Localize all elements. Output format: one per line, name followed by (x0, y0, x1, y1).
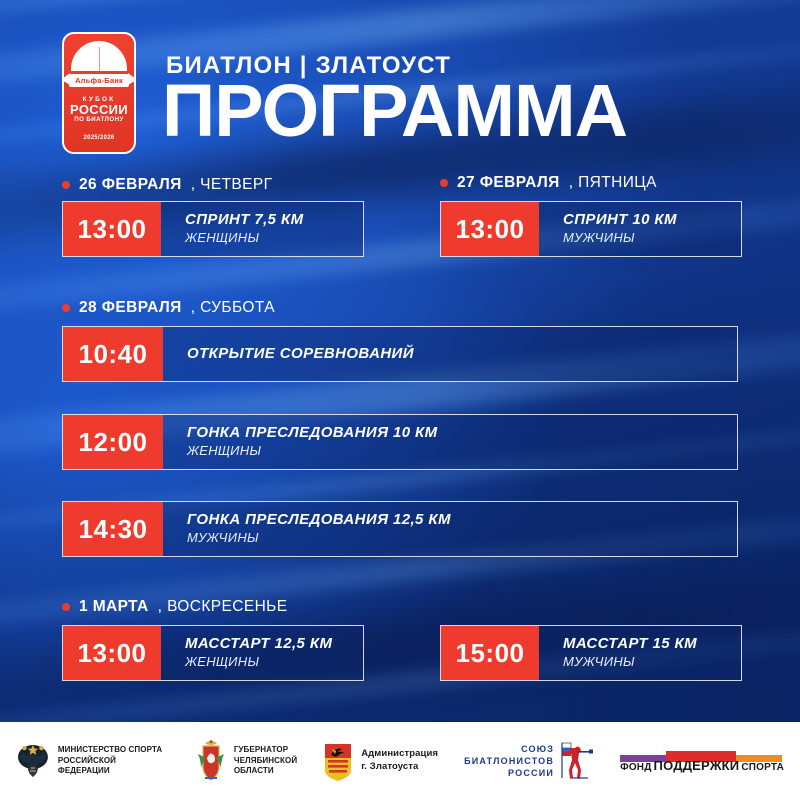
logo-zlatoust-administration: Администрация г. Златоуста (323, 740, 438, 782)
logo-text: Администрация г. Златоуста (361, 748, 438, 774)
event-card[interactable]: 13:00 СПРИНТ 7,5 КМ ЖЕНЩИНЫ (62, 201, 364, 257)
event-card[interactable]: 13:00 МАССТАРТ 12,5 КМ ЖЕНЩИНЫ (62, 625, 364, 681)
day-header-27-feb: 27 ФЕВРАЛЯ , ПЯТНИЦА (440, 174, 800, 192)
event-card[interactable]: 14:30 ГОНКА ПРЕСЛЕДОВАНИЯ 12,5 КМ МУЖЧИН… (62, 501, 738, 557)
event-details: ОТКРЫТИЕ СОРЕВНОВАНИЙ (163, 327, 737, 381)
chelyabinsk-coat-of-arms-icon (196, 740, 226, 782)
event-category: МУЖЧИНЫ (187, 530, 737, 546)
day-date: 26 ФЕВРАЛЯ (79, 176, 182, 194)
event-card[interactable]: 10:40 ОТКРЫТИЕ СОРЕВНОВАНИЙ (62, 326, 738, 382)
event-category: ЖЕНЩИНЫ (187, 443, 737, 459)
bullet-dot-icon (62, 304, 70, 312)
event-name: ОТКРЫТИЕ СОРЕВНОВАНИЙ (187, 346, 737, 363)
event-time: 13:00 (441, 202, 539, 256)
logo-ministry-of-sport: МИНИСТЕРСТВО СПОРТА РОССИЙСКОЙ ФЕДЕРАЦИИ (16, 741, 170, 781)
day-weekday: , ПЯТНИЦА (569, 174, 657, 192)
event-name: СПРИНТ 10 КМ (563, 212, 741, 229)
event-details: МАССТАРТ 12,5 КМ ЖЕНЩИНЫ (161, 626, 363, 680)
event-details: СПРИНТ 10 КМ МУЖЧИНЫ (539, 202, 741, 256)
event-name: ГОНКА ПРЕСЛЕДОВАНИЯ 12,5 КМ (187, 512, 737, 529)
logo-text: МИНИСТЕРСТВО СПОРТА РОССИЙСКОЙ ФЕДЕРАЦИИ (58, 745, 170, 777)
event-time: 10:40 (63, 327, 163, 381)
cup-badge-logo: Альфа-Банк КУБОК РОССИИ ПО БИАТЛОНУ 2025… (62, 32, 136, 154)
event-category: МУЖЧИНЫ (563, 654, 741, 670)
poster-header: Альфа-Банк КУБОК РОССИИ ПО БИАТЛОНУ 2025… (62, 28, 760, 148)
day-header-1-mar: 1 МАРТА , ВОСКРЕСЕНЬЕ (62, 598, 800, 616)
cup-line-3: ПО БИАТЛОНУ (70, 117, 128, 124)
target-arc-icon (71, 41, 127, 71)
alfa-bank-ribbon: Альфа-Банк (69, 71, 129, 87)
fund-word-3: СПОРТА (741, 762, 784, 773)
alfa-bank-label: Альфа-Банк (69, 74, 129, 87)
event-time: 12:00 (63, 415, 163, 469)
event-details: МАССТАРТ 15 КМ МУЖЧИНЫ (539, 626, 741, 680)
event-time: 15:00 (441, 626, 539, 680)
partners-footer: МИНИСТЕРСТВО СПОРТА РОССИЙСКОЙ ФЕДЕРАЦИИ… (0, 722, 800, 800)
day-weekday: , СУББОТА (191, 299, 275, 317)
event-time: 14:30 (63, 502, 163, 556)
logo-sport-support-fund: ФОНД ПОДДЕРЖКИ СПОРТА (620, 749, 784, 773)
event-time: 13:00 (63, 626, 161, 680)
event-category: МУЖЧИНЫ (563, 230, 741, 246)
fund-word-2: ПОДДЕРЖКИ (654, 758, 740, 773)
logo-text: ГУБЕРНАТОР ЧЕЛЯБИНСКОЙ ОБЛАСТИ (234, 745, 297, 777)
event-details: ГОНКА ПРЕСЛЕДОВАНИЯ 10 КМ ЖЕНЩИНЫ (163, 415, 737, 469)
event-card[interactable]: 13:00 СПРИНТ 10 КМ МУЖЧИНЫ (440, 201, 742, 257)
bullet-dot-icon (440, 179, 448, 187)
cup-title-block: КУБОК РОССИИ ПО БИАТЛОНУ (70, 96, 128, 124)
event-time: 13:00 (63, 202, 161, 256)
logo-text: СОЮЗ БИАТЛОНИСТОВ РОССИИ (464, 743, 554, 779)
event-name: МАССТАРТ 15 КМ (563, 636, 741, 653)
event-category: ЖЕНЩИНЫ (185, 654, 363, 670)
event-details: ГОНКА ПРЕСЛЕДОВАНИЯ 12,5 КМ МУЖЧИНЫ (163, 502, 737, 556)
event-card[interactable]: 12:00 ГОНКА ПРЕСЛЕДОВАНИЯ 10 КМ ЖЕНЩИНЫ (62, 414, 738, 470)
day-weekday: , ВОСКРЕСЕНЬЕ (158, 598, 288, 616)
event-card[interactable]: 15:00 МАССТАРТ 15 КМ МУЖЧИНЫ (440, 625, 742, 681)
day-date: 27 ФЕВРАЛЯ (457, 174, 560, 192)
poster-root: Альфа-Банк КУБОК РОССИИ ПО БИАТЛОНУ 2025… (0, 0, 800, 800)
event-name: ГОНКА ПРЕСЛЕДОВАНИЯ 10 КМ (187, 425, 737, 442)
day-date: 28 ФЕВРАЛЯ (79, 299, 182, 317)
event-row-mar1: 13:00 МАССТАРТ 12,5 КМ ЖЕНЩИНЫ 15:00 МАС… (0, 625, 800, 681)
bullet-dot-icon (62, 181, 70, 189)
schedule-list: 26 ФЕВРАЛЯ , ЧЕТВЕРГ 27 ФЕВРАЛЯ , ПЯТНИЦ… (0, 176, 800, 681)
day-header-28-feb: 28 ФЕВРАЛЯ , СУББОТА (62, 299, 800, 317)
zlatoust-city-arms-icon (323, 740, 353, 782)
event-category: ЖЕНЩИНЫ (185, 230, 363, 246)
page-title: ПРОГРАММА (162, 74, 627, 148)
event-name: МАССТАРТ 12,5 КМ (185, 636, 363, 653)
fund-wordmark: ФОНД ПОДДЕРЖКИ СПОРТА (620, 758, 784, 773)
event-row-feb26-27: 13:00 СПРИНТ 7,5 КМ ЖЕНЩИНЫ 13:00 СПРИНТ… (0, 201, 800, 257)
biathlete-shooter-icon (558, 738, 594, 784)
day-weekday: , ЧЕТВЕРГ (191, 176, 273, 194)
bullet-dot-icon (62, 603, 70, 611)
cup-line-2: РОССИИ (70, 103, 128, 117)
event-details: СПРИНТ 7,5 КМ ЖЕНЩИНЫ (161, 202, 363, 256)
cup-season: 2025/2026 (83, 135, 114, 141)
double-headed-eagle-icon (16, 741, 50, 781)
logo-governor-chelyabinsk: ГУБЕРНАТОР ЧЕЛЯБИНСКОЙ ОБЛАСТИ (196, 740, 297, 782)
logo-russian-biathlon-union: СОЮЗ БИАТЛОНИСТОВ РОССИИ (464, 738, 594, 784)
event-name: СПРИНТ 7,5 КМ (185, 212, 363, 229)
day-date: 1 МАРТА (79, 598, 149, 616)
fund-word-1: ФОНД (620, 762, 651, 773)
